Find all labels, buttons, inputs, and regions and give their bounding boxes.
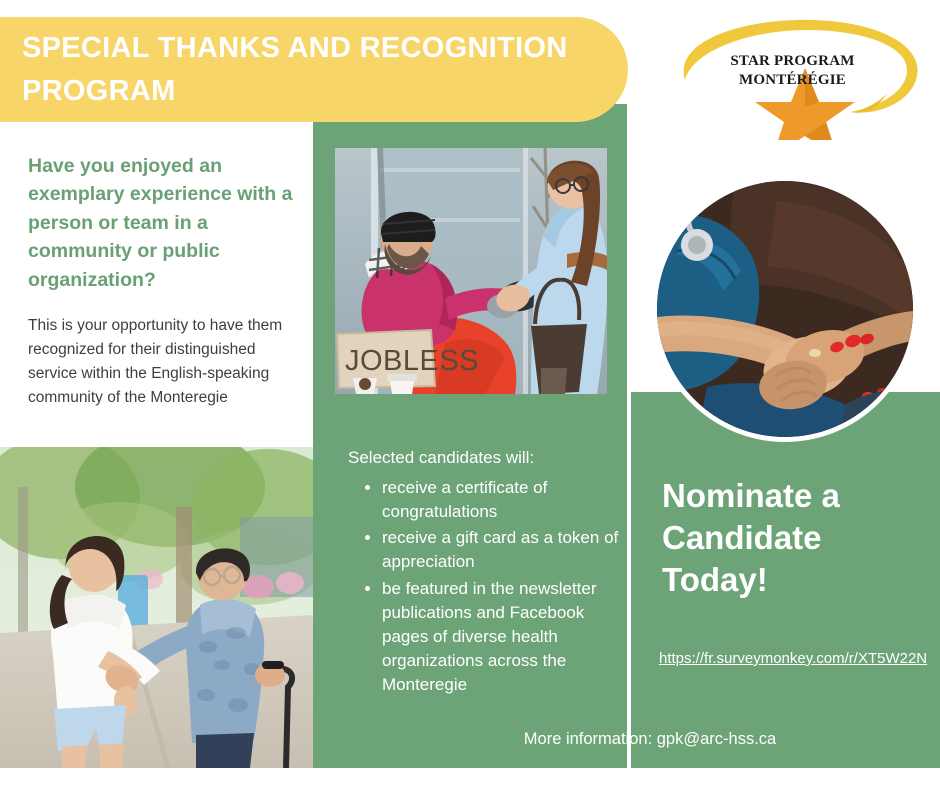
photo-hands-illustration: [657, 181, 913, 437]
header-banner: SPECIAL THANKS AND RECOGNITION PROGRAM: [0, 17, 628, 122]
logo-line-1: STAR PROGRAM: [655, 52, 930, 71]
nomination-survey-link[interactable]: https://fr.surveymonkey.com/r/XT5W22N: [659, 648, 907, 670]
left-heading: Have you enjoyed an exemplary experience…: [28, 152, 296, 294]
selected-candidates-lead: Selected candidates will:: [348, 446, 608, 470]
svg-text:JOBLESS: JOBLESS: [345, 345, 479, 377]
photo-hands-circle: [652, 176, 918, 442]
page-title: SPECIAL THANKS AND RECOGNITION PROGRAM: [0, 27, 628, 111]
contact-info: More information: gpk@arc-hss.ca: [400, 730, 900, 749]
list-item: receive a certificate of congratulations: [382, 476, 634, 524]
photo-handshake-illustration: JOBLESS: [335, 148, 607, 394]
photo-walking-assistance: [0, 447, 313, 768]
benefits-list: receive a certificate of congratulations…: [352, 476, 634, 699]
photo-walking-illustration: [0, 447, 313, 768]
list-item: be featured in the newsletter publicatio…: [382, 577, 634, 698]
left-body-text: This is your opportunity to have them re…: [28, 314, 290, 410]
photo-handshake: JOBLESS: [335, 148, 607, 394]
poster-root: SPECIAL THANKS AND RECOGNITION PROGRAM S…: [0, 0, 940, 788]
logo-wordmark: STAR PROGRAM MONTÉRÉGIE: [655, 52, 930, 90]
star-program-logo: STAR PROGRAM MONTÉRÉGIE: [655, 10, 930, 140]
logo-line-2: MONTÉRÉGIE: [655, 71, 930, 90]
cta-headline: Nominate a Candidate Today!: [662, 475, 912, 602]
list-item: receive a gift card as a token of apprec…: [382, 526, 634, 574]
